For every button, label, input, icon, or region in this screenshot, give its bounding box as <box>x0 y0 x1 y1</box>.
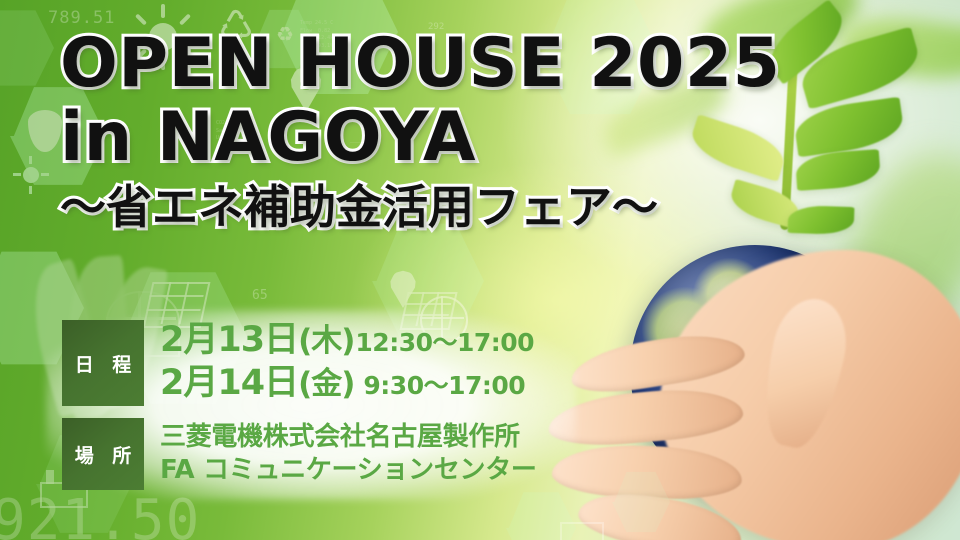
venue-tag: 場 所 <box>62 418 144 490</box>
headline-line-1: OPEN HOUSE 2025 <box>60 28 780 100</box>
sun-icon <box>8 150 54 200</box>
schedule-day-of-week: (木) <box>298 321 354 361</box>
schedule-tag: 日 程 <box>62 320 144 406</box>
venue-values: 三菱電機株式会社名古屋製作所 FA コミュニケーションセンター <box>160 418 537 490</box>
plant-stem <box>780 40 799 230</box>
hand-holding-globe-photo <box>600 210 960 540</box>
finger <box>551 443 743 502</box>
schedule-time: 12:30〜17:00 <box>354 323 534 363</box>
leaf-icon <box>788 205 855 235</box>
venue-row: 場 所 三菱電機株式会社名古屋製作所 FA コミュニケーションセンター <box>62 418 537 490</box>
thumb <box>753 292 855 454</box>
earth-globe <box>630 245 880 495</box>
leaf-icon <box>792 97 905 158</box>
background-number: 65 <box>252 288 268 303</box>
schedule-line: 2月13日 (木) 12:30〜17:00 <box>160 320 534 363</box>
leaf-icon <box>831 134 960 346</box>
venue-line: 三菱電機株式会社名古屋製作所 <box>160 421 537 454</box>
hexagon-icon <box>612 470 670 534</box>
schedule-row: 日 程 2月13日 (木) 12:30〜17:00 2月14日 (金) 9:30… <box>62 320 537 406</box>
event-banner: ♺ ♻ <box>0 0 960 540</box>
schedule-day-of-week: (金) <box>298 364 354 404</box>
schedule-time: 9:30〜17:00 <box>354 366 525 406</box>
schedule-line: 2月14日 (金) 9:30〜17:00 <box>160 363 534 406</box>
finger <box>575 484 746 540</box>
info-panel: 日 程 2月13日 (木) 12:30〜17:00 2月14日 (金) 9:30… <box>62 320 537 490</box>
headline-line-2: in NAGOYA <box>60 100 780 176</box>
leaf-icon <box>795 26 925 109</box>
location-pin-icon <box>388 270 418 308</box>
leaf-icon <box>795 149 881 191</box>
factory-icon <box>560 512 600 540</box>
leaf-icon <box>837 10 960 86</box>
venue-line: FA コミュニケーションセンター <box>160 454 537 487</box>
hexagon-icon <box>0 8 54 88</box>
schedule-values: 2月13日 (木) 12:30〜17:00 2月14日 (金) 9:30〜17:… <box>160 320 534 406</box>
schedule-date: 2月13日 <box>160 320 298 360</box>
palm <box>660 250 960 540</box>
water-drop-icon <box>28 110 62 152</box>
headline: OPEN HOUSE 2025 in NAGOYA 〜省エネ補助金活用フェア〜 <box>60 28 780 236</box>
finger <box>567 327 747 400</box>
schedule-date: 2月14日 <box>160 363 298 403</box>
headline-subtitle: 〜省エネ補助金活用フェア〜 <box>60 178 780 236</box>
